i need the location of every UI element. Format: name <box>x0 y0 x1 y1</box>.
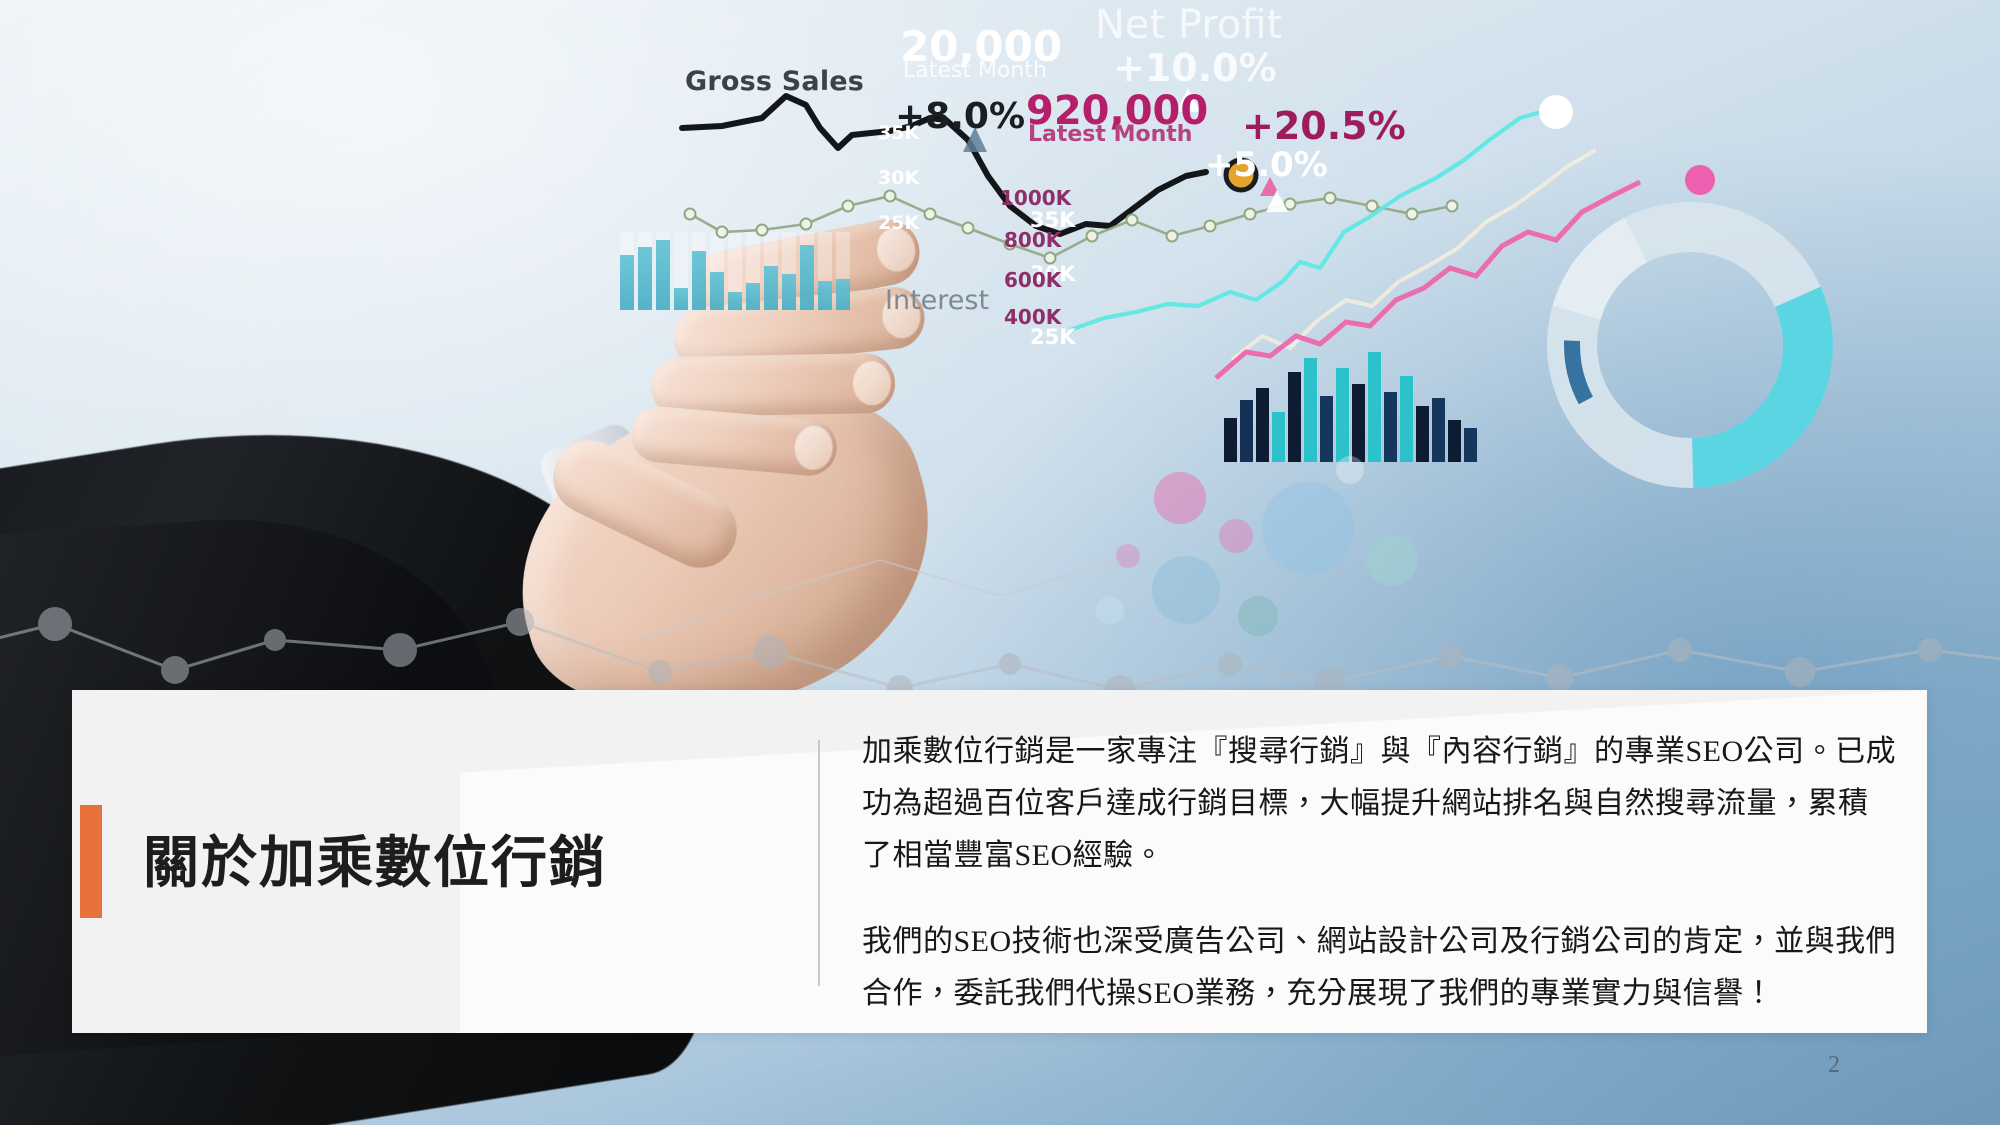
chart-tick-35k-a: 35K <box>878 122 919 144</box>
accent-bar <box>80 805 102 918</box>
page-number: 2 <box>1828 1052 1840 1079</box>
bokeh-circles <box>1096 456 1418 636</box>
chart-tick-600k: 600K <box>1004 268 1061 292</box>
body-paragraph-1: 加乘數位行銷是一家專注『搜尋行銷』與『內容行銷』的專業SEO公司。已成功為超過百… <box>862 726 1897 882</box>
chart-tick-30k-a: 30K <box>878 167 919 189</box>
node-network <box>0 560 2000 705</box>
body-paragraph-2: 我們的SEO技術也深受廣告公司、網站設計公司及行銷公司的肯定，並與我們合作，委託… <box>862 916 1897 1020</box>
donut-chart <box>1530 185 1849 504</box>
chart-pct-5: +5.0% <box>1205 145 1328 185</box>
chart-sublabel-latest-1: Latest Month <box>903 58 1047 83</box>
chart-label-net-profit: Net Profit <box>1095 2 1282 48</box>
chart-pct-205: +20.5% <box>1242 104 1406 148</box>
chart-pct-10: +10.0% <box>1113 46 1277 90</box>
slide: Gross Sales Interest Net Profit 20,000 L… <box>0 0 2000 1125</box>
chart-tick-25k-a: 25K <box>878 212 919 234</box>
chart-sublabel-latest-2: Latest Month <box>1028 122 1192 147</box>
chart-label-interest: Interest <box>885 285 989 316</box>
vertical-divider <box>818 740 820 986</box>
chart-label-gross-sales: Gross Sales <box>685 66 864 97</box>
body-text: 加乘數位行銷是一家專注『搜尋行銷』與『內容行銷』的專業SEO公司。已成功為超過百… <box>862 726 1897 1020</box>
bar-series-center <box>1224 352 1477 462</box>
page-title: 關於加乘數位行銷 <box>143 831 703 898</box>
chart-tick-400k: 400K <box>1004 305 1061 329</box>
chart-tick-800k: 800K <box>1004 228 1061 252</box>
net-profit-marker <box>1539 95 1573 129</box>
magenta-marker <box>1685 165 1715 195</box>
chart-tick-1000k: 1000K <box>1000 186 1071 210</box>
